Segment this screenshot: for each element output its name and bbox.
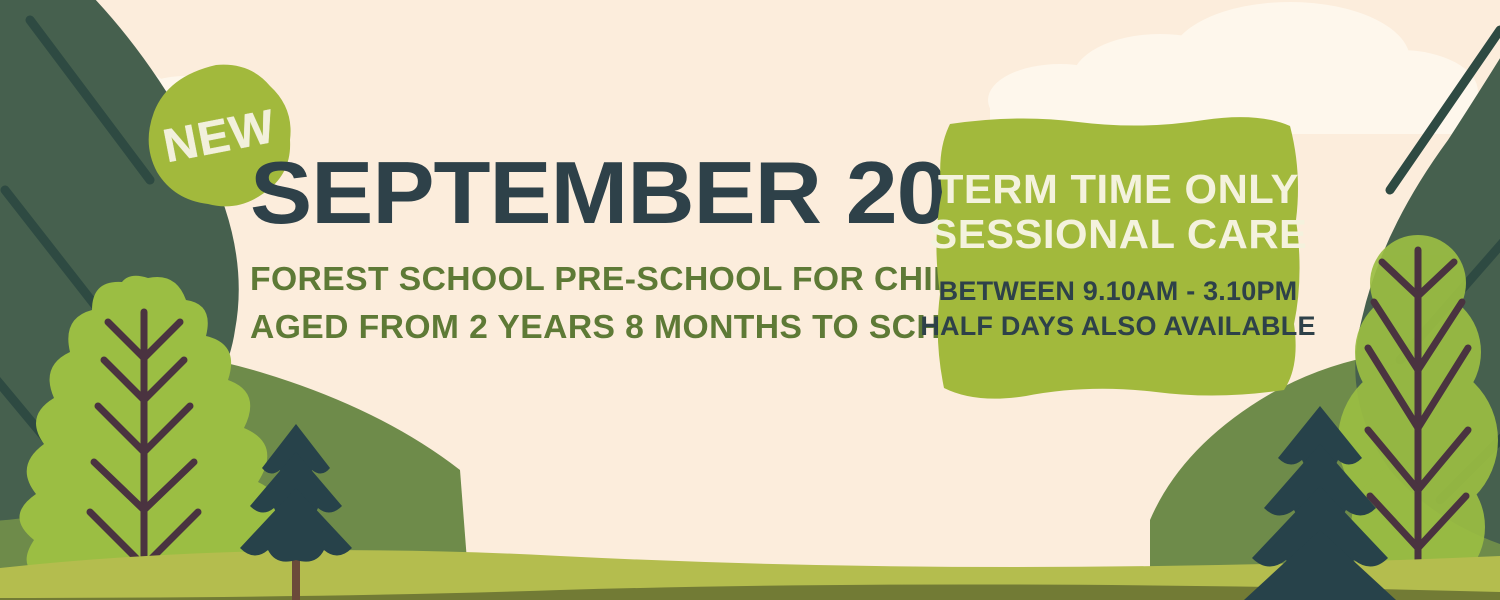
info-card-detail-line-1: BETWEEN 9.10AM - 3.10PM xyxy=(920,274,1315,309)
info-card-heading-line-1: TERM TIME ONLY xyxy=(937,166,1298,212)
subtitle-line-2: AGED FROM 2 YEARS 8 MONTHS TO SCHOOL xyxy=(250,303,882,351)
subtitle-line-1: FOREST SCHOOL PRE-SCHOOL FOR CHILDREN xyxy=(250,255,882,303)
page-title: SEPTEMBER 2025 xyxy=(250,152,939,235)
info-card-content: TERM TIME ONLY SESSIONAL CARE BETWEEN 9.… xyxy=(928,108,1308,406)
info-card-details: BETWEEN 9.10AM - 3.10PM HALF DAYS ALSO A… xyxy=(920,274,1315,343)
info-card[interactable]: TERM TIME ONLY SESSIONAL CARE BETWEEN 9.… xyxy=(928,108,1308,406)
info-card-heading-line-2: SESSIONAL CARE xyxy=(929,211,1307,257)
info-card-heading: TERM TIME ONLY SESSIONAL CARE xyxy=(929,167,1307,259)
headline-block: SEPTEMBER 2025 FOREST SCHOOL PRE-SCHOOL … xyxy=(250,152,900,350)
subtitle: FOREST SCHOOL PRE-SCHOOL FOR CHILDREN AG… xyxy=(250,255,882,351)
info-card-detail-line-2: HALF DAYS ALSO AVAILABLE xyxy=(920,309,1315,344)
forest-school-banner: NEW SEPTEMBER 2025 FOREST SCHOOL PRE-SCH… xyxy=(0,0,1500,600)
